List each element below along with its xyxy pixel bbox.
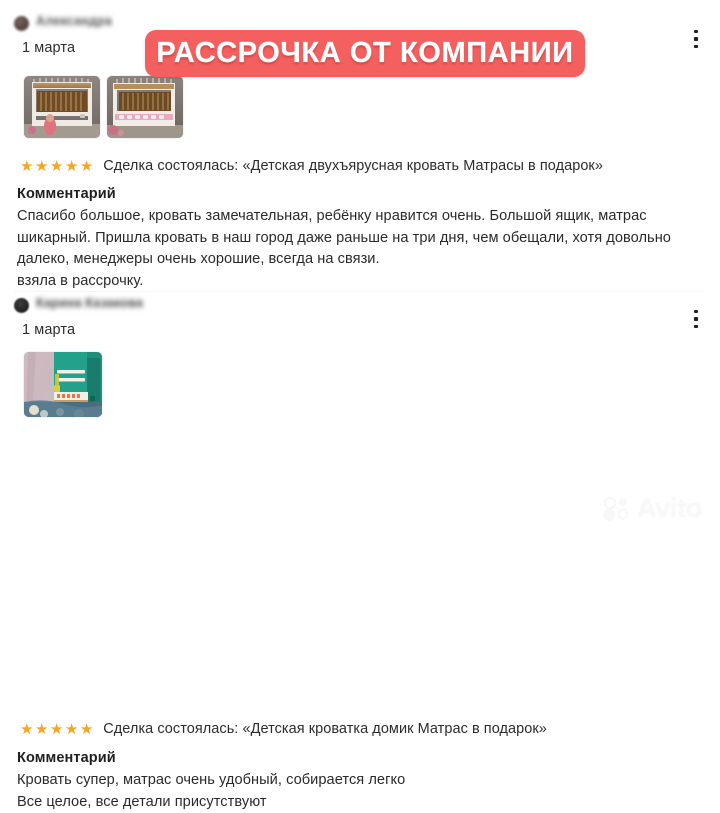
star-icon: ★ xyxy=(65,159,78,174)
star-icon: ★ xyxy=(35,159,48,174)
star-icon: ★ xyxy=(50,159,63,174)
kebab-menu-icon[interactable] xyxy=(688,28,704,50)
rating-row: ★ ★ ★ ★ ★ Сделка состоялась: «Детская дв… xyxy=(20,158,603,174)
review-photo-strip xyxy=(24,76,183,138)
comment-paragraph: Все целое, все детали присутствуют xyxy=(17,792,693,813)
comment-text: Спасибо большое, кровать замечательная, … xyxy=(17,206,693,292)
avito-watermark-text: Avito xyxy=(637,495,702,522)
comment-paragraph: взяла в рассрочку. xyxy=(17,271,693,293)
star-rating: ★ ★ ★ ★ ★ xyxy=(20,722,93,737)
star-icon: ★ xyxy=(80,159,93,174)
review-photo[interactable] xyxy=(107,76,183,138)
avito-logo-icon xyxy=(602,496,632,522)
deal-title: Сделка состоялась: «Детская двухъярусная… xyxy=(103,158,603,174)
kebab-menu-icon[interactable] xyxy=(688,308,704,330)
review-photo[interactable] xyxy=(24,76,100,138)
avito-watermark: Avito xyxy=(602,495,702,522)
avatar xyxy=(14,298,29,313)
bunk-bed-photo-1 xyxy=(24,76,100,138)
comment-paragraph: Спасибо большое, кровать замечательная, … xyxy=(17,206,693,271)
star-rating: ★ ★ ★ ★ ★ xyxy=(20,159,93,174)
review-header: Карина Казакова 1 марта xyxy=(0,296,720,316)
star-icon: ★ xyxy=(80,722,93,737)
review-card: Карина Казакова 1 марта xyxy=(0,296,720,316)
author-name: Карина Казакова xyxy=(36,296,143,310)
star-icon: ★ xyxy=(20,722,33,737)
review-date: 1 марта xyxy=(22,40,75,56)
promo-banner-text: РАССРОЧКА ОТ КОМПАНИИ xyxy=(156,37,573,70)
review-photo-strip xyxy=(24,352,102,417)
star-icon: ★ xyxy=(65,722,78,737)
author-name: Александра xyxy=(36,14,112,28)
avatar xyxy=(14,16,29,31)
review-date: 1 марта xyxy=(22,322,75,338)
comment-heading: Комментарий xyxy=(17,750,116,766)
comment-heading: Комментарий xyxy=(17,186,116,202)
bedroom-photo xyxy=(24,352,102,417)
rating-row: ★ ★ ★ ★ ★ Сделка состоялась: «Детская кр… xyxy=(20,721,547,737)
review-separator xyxy=(14,291,704,292)
reviews-page: Александра 1 марта xyxy=(0,0,720,540)
bunk-bed-photo-2 xyxy=(107,76,183,138)
promo-banner: РАССРОЧКА ОТ КОМПАНИИ xyxy=(145,30,585,77)
comment-text: Кровать супер, матрас очень удобный, соб… xyxy=(17,770,693,813)
review-photo[interactable] xyxy=(24,352,102,417)
star-icon: ★ xyxy=(20,159,33,174)
star-icon: ★ xyxy=(50,722,63,737)
comment-paragraph: Кровать супер, матрас очень удобный, соб… xyxy=(17,770,693,792)
star-icon: ★ xyxy=(35,722,48,737)
deal-title: Сделка состоялась: «Детская кроватка дом… xyxy=(103,721,547,737)
